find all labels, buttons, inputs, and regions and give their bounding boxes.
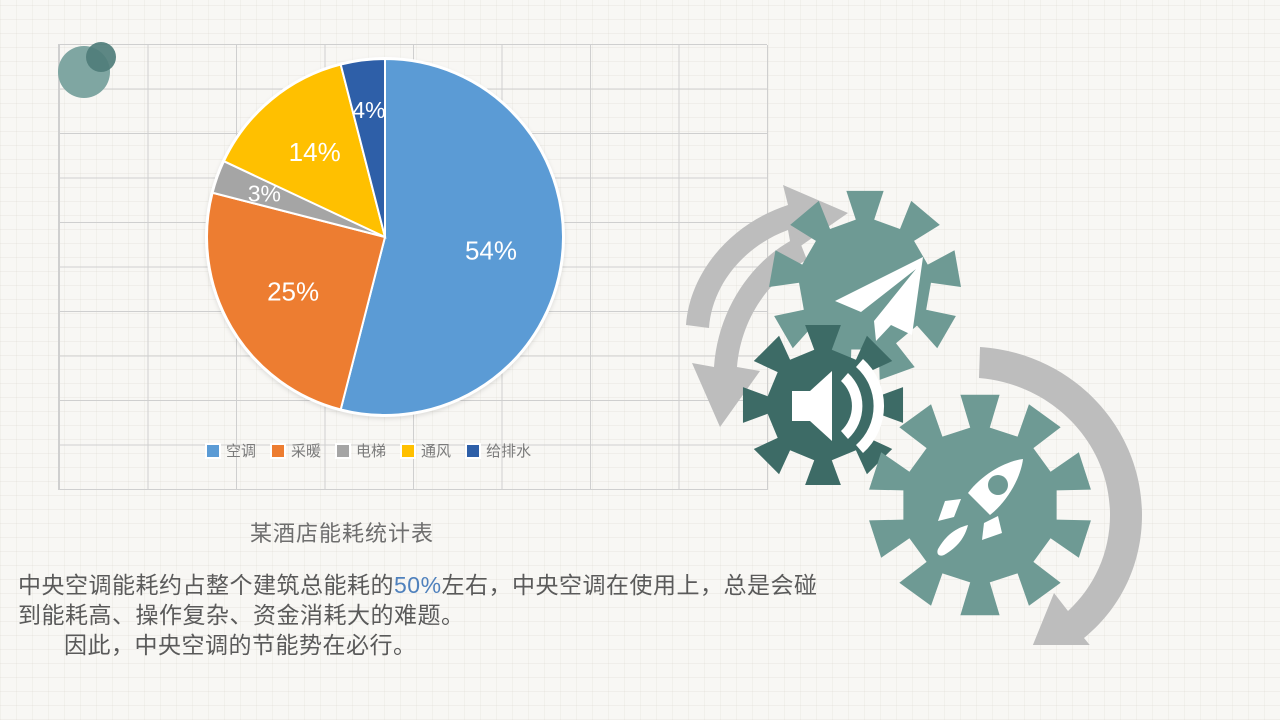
legend-swatch-tongfeng	[400, 443, 416, 459]
pie-value-label-电梯: 3%	[248, 181, 281, 207]
gears-illustration	[680, 175, 1240, 645]
pie-chart: 54%25%3%14%4%	[205, 57, 565, 417]
legend-label-dianti: 电梯	[356, 440, 386, 461]
pie-value-label-空调: 54%	[465, 235, 517, 265]
legend-item-4[interactable]: 给排水	[465, 440, 531, 461]
logo-circle-small	[86, 42, 116, 72]
legend-swatch-cainuan	[270, 443, 286, 459]
pie-value-label-给排水: 4%	[352, 97, 385, 123]
brand-logo	[58, 42, 118, 102]
legend-label-jipaishui: 给排水	[486, 440, 531, 461]
legend-swatch-kongtiao	[205, 443, 221, 459]
legend-label-tongfeng: 通风	[421, 440, 451, 461]
body-line1-part1: 中央空调能耗约占整个建筑总能耗的	[18, 572, 394, 598]
legend-label-kongtiao: 空调	[226, 440, 256, 461]
legend-item-1[interactable]: 采暖	[270, 440, 321, 461]
slide-canvas: 54%25%3%14%4% 空调 采暖 电梯 通风 给排水 某酒店能耗统计表 中…	[0, 0, 1280, 720]
pie-value-label-通风: 14%	[289, 137, 341, 167]
gear-rocket	[869, 395, 1091, 616]
gears-svg	[680, 175, 1240, 645]
legend-item-3[interactable]: 通风	[400, 440, 451, 461]
body-highlight-50: 50%	[394, 572, 442, 598]
pie-value-label-采暖: 25%	[267, 276, 319, 306]
chart-legend: 空调 采暖 电梯 通风 给排水	[205, 440, 531, 461]
legend-swatch-dianti	[335, 443, 351, 459]
legend-swatch-jipaishui	[465, 443, 481, 459]
pie-chart-svg: 54%25%3%14%4%	[205, 57, 565, 417]
legend-label-cainuan: 采暖	[291, 440, 321, 461]
legend-item-2[interactable]: 电梯	[335, 440, 386, 461]
chart-caption: 某酒店能耗统计表	[250, 516, 434, 548]
legend-item-0[interactable]: 空调	[205, 440, 256, 461]
